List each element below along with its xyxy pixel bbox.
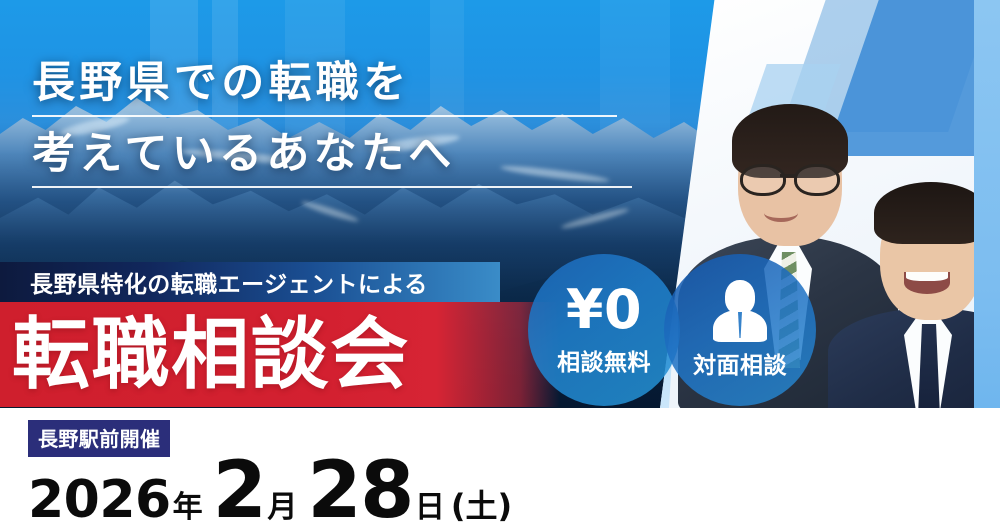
main-title-band: 転職相談会 (0, 302, 560, 407)
headline-block: 長野県での転職を 考えているあなたへ (32, 62, 632, 188)
event-date-block: 長野駅前開催 2026 年 2 月 28 日 (土) (28, 420, 512, 523)
promo-banner: 長野県での転職を 考えているあなたへ 長野県特化の転職エージェントによる 転職相… (0, 0, 1000, 523)
event-date-line: 2026 年 2 月 28 日 (土) (28, 458, 512, 523)
right-edge-blue-stripe (974, 0, 1000, 408)
badge-caption: 対面相談 (693, 346, 787, 380)
glasses-lens (740, 164, 786, 196)
glasses-icon (740, 164, 840, 190)
event-day-unit: 日 (415, 493, 445, 523)
badge-free-consultation: ¥0 相談無料 (528, 254, 680, 406)
teeth (906, 272, 948, 281)
hero-section: 長野県での転職を 考えているあなたへ 長野県特化の転職エージェントによる 転職相… (0, 0, 1000, 408)
headline-line-1: 長野県での転職を (32, 62, 632, 115)
venue-tag: 長野駅前開催 (28, 420, 170, 457)
badge-in-person-consultation: 対面相談 (664, 254, 816, 406)
sub-label-text: 長野県特化の転職エージェントによる (30, 265, 428, 299)
headline-underline-1 (32, 115, 617, 117)
badge-amount: ¥0 (566, 283, 642, 337)
sub-label-bar: 長野県特化の転職エージェントによる (0, 262, 500, 302)
event-year: 2026 (28, 474, 171, 523)
event-month: 2 (213, 458, 266, 523)
smile (764, 204, 798, 222)
hair (874, 182, 988, 244)
event-year-unit: 年 (173, 493, 203, 523)
footer-bar: 長野駅前開催 2026 年 2 月 28 日 (土) REGIONAL CARE… (0, 408, 1000, 523)
badge-caption: 相談無料 (557, 343, 651, 377)
main-title-text: 転職相談会 (12, 316, 410, 394)
headline-underline-2 (32, 186, 632, 188)
headline-line-2: 考えているあなたへ (32, 133, 632, 186)
event-weekday: (土) (451, 490, 512, 522)
event-day: 28 (307, 458, 412, 523)
event-month-unit: 月 (267, 493, 297, 523)
person-icon (709, 280, 771, 340)
person-icon-head (725, 280, 755, 314)
